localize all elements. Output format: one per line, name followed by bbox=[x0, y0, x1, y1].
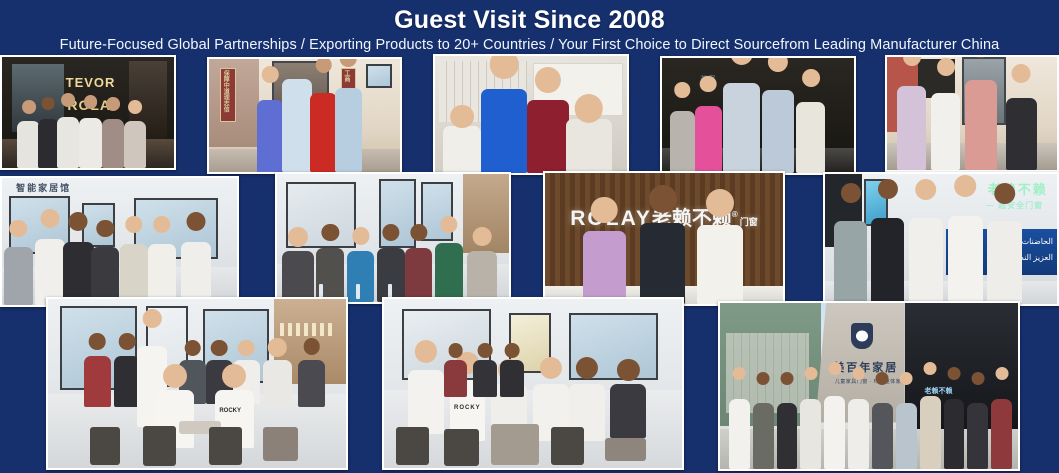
plaque-text: 工商 bbox=[342, 70, 349, 82]
chair bbox=[90, 427, 120, 464]
person-silhouette bbox=[897, 86, 926, 170]
person-silhouette bbox=[931, 93, 960, 170]
person-silhouette bbox=[824, 396, 845, 469]
person-silhouette bbox=[444, 360, 468, 397]
person-silhouette bbox=[181, 242, 212, 306]
photo-delegation-lobby-group: 老赖不赖 — 超安全门窗 الحاضنات الاعمال العزيز الن… bbox=[823, 172, 1059, 306]
chair bbox=[209, 427, 242, 464]
photo-showroom-meeting-circle-large: ROCKY bbox=[46, 297, 348, 470]
photo-lounge-group-discussion: ROCKY bbox=[382, 297, 684, 470]
page-subtitle: Future-Focused Global Partnerships / Exp… bbox=[0, 36, 1059, 55]
person-silhouette bbox=[84, 356, 111, 407]
person-silhouette bbox=[640, 223, 685, 304]
person-silhouette bbox=[57, 117, 79, 168]
person-silhouette bbox=[35, 239, 66, 305]
person-silhouette bbox=[257, 100, 284, 172]
person-silhouette bbox=[443, 126, 481, 173]
tevor-sign-text: TEVOR bbox=[66, 75, 116, 90]
person-silhouette bbox=[263, 360, 293, 407]
person-silhouette bbox=[948, 216, 983, 304]
person-silhouette bbox=[298, 360, 325, 407]
showroom-sign-text: 智能家居馆 bbox=[16, 181, 71, 194]
person-silhouette bbox=[148, 244, 176, 305]
person-silhouette bbox=[987, 221, 1022, 304]
person-silhouette bbox=[909, 218, 944, 304]
person-silhouette bbox=[114, 356, 141, 407]
chair bbox=[396, 427, 429, 464]
photo-office-building-group-of-four: 保障中道理志信 工商 bbox=[207, 57, 402, 174]
person-silhouette bbox=[79, 118, 101, 168]
person-silhouette bbox=[944, 399, 965, 469]
person-silhouette bbox=[723, 83, 759, 173]
person-silhouette bbox=[834, 221, 866, 304]
photo-visitors-group-dark-entrance: 茶室 bbox=[660, 56, 856, 175]
person-silhouette bbox=[408, 370, 444, 434]
person-silhouette bbox=[566, 119, 612, 173]
person-silhouette bbox=[1006, 98, 1037, 170]
person-silhouette bbox=[310, 93, 337, 172]
person-silhouette bbox=[347, 251, 375, 302]
person-silhouette bbox=[500, 360, 524, 397]
ottoman bbox=[605, 438, 647, 462]
person-silhouette bbox=[796, 102, 825, 173]
chair bbox=[143, 426, 176, 467]
person-silhouette bbox=[753, 403, 774, 469]
storefront-secondary-sign: 老赖不赖 bbox=[924, 386, 952, 396]
person-silhouette bbox=[102, 119, 124, 168]
person-silhouette bbox=[435, 243, 463, 302]
person-silhouette bbox=[670, 111, 695, 173]
chair bbox=[551, 427, 584, 464]
person-silhouette bbox=[467, 251, 497, 302]
page-title: Guest Visit Since 2008 bbox=[0, 5, 1059, 35]
person-silhouette bbox=[124, 121, 146, 168]
person-silhouette bbox=[991, 399, 1012, 469]
person-silhouette bbox=[695, 106, 722, 173]
plaque-text: 保障中道理志信 bbox=[221, 70, 228, 112]
person-silhouette bbox=[762, 90, 795, 173]
person-silhouette bbox=[63, 242, 94, 306]
photo-rolay-sign-thumbs-up-trio: ROLAY老赖不赖®门窗 bbox=[543, 171, 785, 306]
person-silhouette bbox=[697, 225, 742, 304]
photo-collage: TEVOR ROLAY 保障中道理志信 工商 bbox=[0, 52, 1059, 473]
person-silhouette bbox=[800, 399, 821, 469]
person-silhouette bbox=[896, 403, 917, 469]
photo-showroom-seating-discussion bbox=[275, 172, 511, 304]
water-bottle bbox=[356, 284, 360, 299]
banner-header: Guest Visit Since 2008 Future-Focused Gl… bbox=[0, 0, 1059, 52]
photo-showroom-entrance-group: TEVOR ROLAY bbox=[0, 55, 176, 170]
person-silhouette bbox=[583, 231, 626, 304]
rolay-category-text: 门窗 bbox=[740, 217, 758, 227]
person-silhouette bbox=[848, 399, 869, 469]
person-silhouette bbox=[38, 119, 59, 168]
person-silhouette bbox=[282, 251, 314, 302]
person-silhouette bbox=[967, 403, 988, 469]
photo-smart-home-showroom-tour: 智能家居馆 bbox=[0, 176, 239, 307]
chair bbox=[444, 429, 480, 466]
person-silhouette bbox=[610, 384, 646, 438]
person-silhouette bbox=[405, 248, 433, 302]
person-silhouette bbox=[920, 396, 941, 469]
person-silhouette bbox=[777, 403, 798, 469]
chair bbox=[263, 427, 299, 461]
rocky-shirt-text: ROCKY bbox=[219, 408, 241, 414]
person-silhouette bbox=[335, 88, 362, 172]
photo-storefront-delegation-photo: 美百年家居 儿童家具门窗 · 环保整体家居 老赖不赖 bbox=[718, 301, 1020, 471]
panda-logo-icon bbox=[851, 323, 873, 349]
person-silhouette bbox=[481, 89, 527, 173]
person-silhouette bbox=[4, 247, 32, 305]
person-silhouette bbox=[120, 244, 148, 305]
storefront-brand-tagline: 儿童家具门窗 · 环保整体家居 bbox=[835, 378, 907, 385]
rocky-shirt-text: ROCKY bbox=[454, 405, 481, 411]
person-silhouette bbox=[872, 403, 893, 469]
promo-banner: Guest Visit Since 2008 Future-Focused Gl… bbox=[0, 0, 1059, 473]
person-silhouette bbox=[871, 218, 903, 304]
person-silhouette bbox=[729, 399, 750, 469]
storefront-brand-name: 美百年家居 bbox=[833, 359, 898, 375]
photo-meeting-room-portrait-pair bbox=[433, 54, 629, 175]
sofa bbox=[491, 424, 539, 465]
person-silhouette bbox=[965, 80, 997, 170]
person-silhouette bbox=[473, 360, 497, 397]
person-silhouette bbox=[282, 79, 313, 172]
photo-international-visitors-group bbox=[885, 55, 1059, 172]
person-silhouette bbox=[17, 121, 39, 168]
lobby-chinese-subsign: — 超安全门窗 bbox=[986, 200, 1043, 211]
person-silhouette bbox=[527, 100, 569, 173]
